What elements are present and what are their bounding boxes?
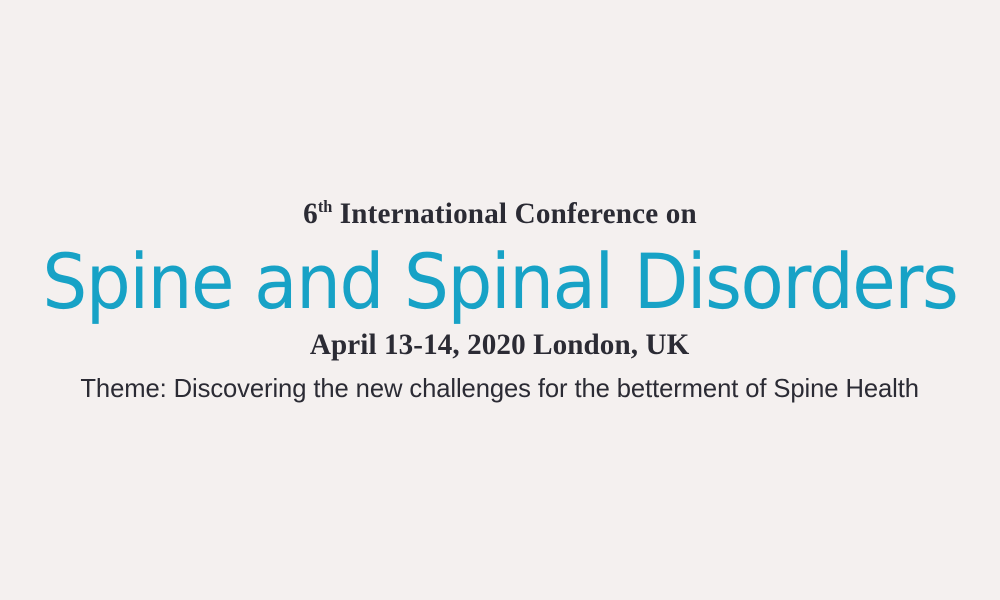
conference-date-venue: April 13-14, 2020 London, UK [310, 330, 689, 360]
edition-ordinal-suffix: th [318, 197, 332, 216]
edition-number: 6 [303, 197, 318, 230]
conference-edition-line: 6th International Conference on [303, 199, 697, 229]
conference-theme: Theme: Discovering the new challenges fo… [81, 375, 920, 401]
conference-banner: 6th International Conference on Spine an… [0, 0, 1000, 600]
conference-title: Spine and Spinal Disorders [42, 243, 957, 321]
edition-rest-label: International Conference on [332, 197, 697, 230]
banner-content: 6th International Conference on Spine an… [0, 0, 1000, 600]
